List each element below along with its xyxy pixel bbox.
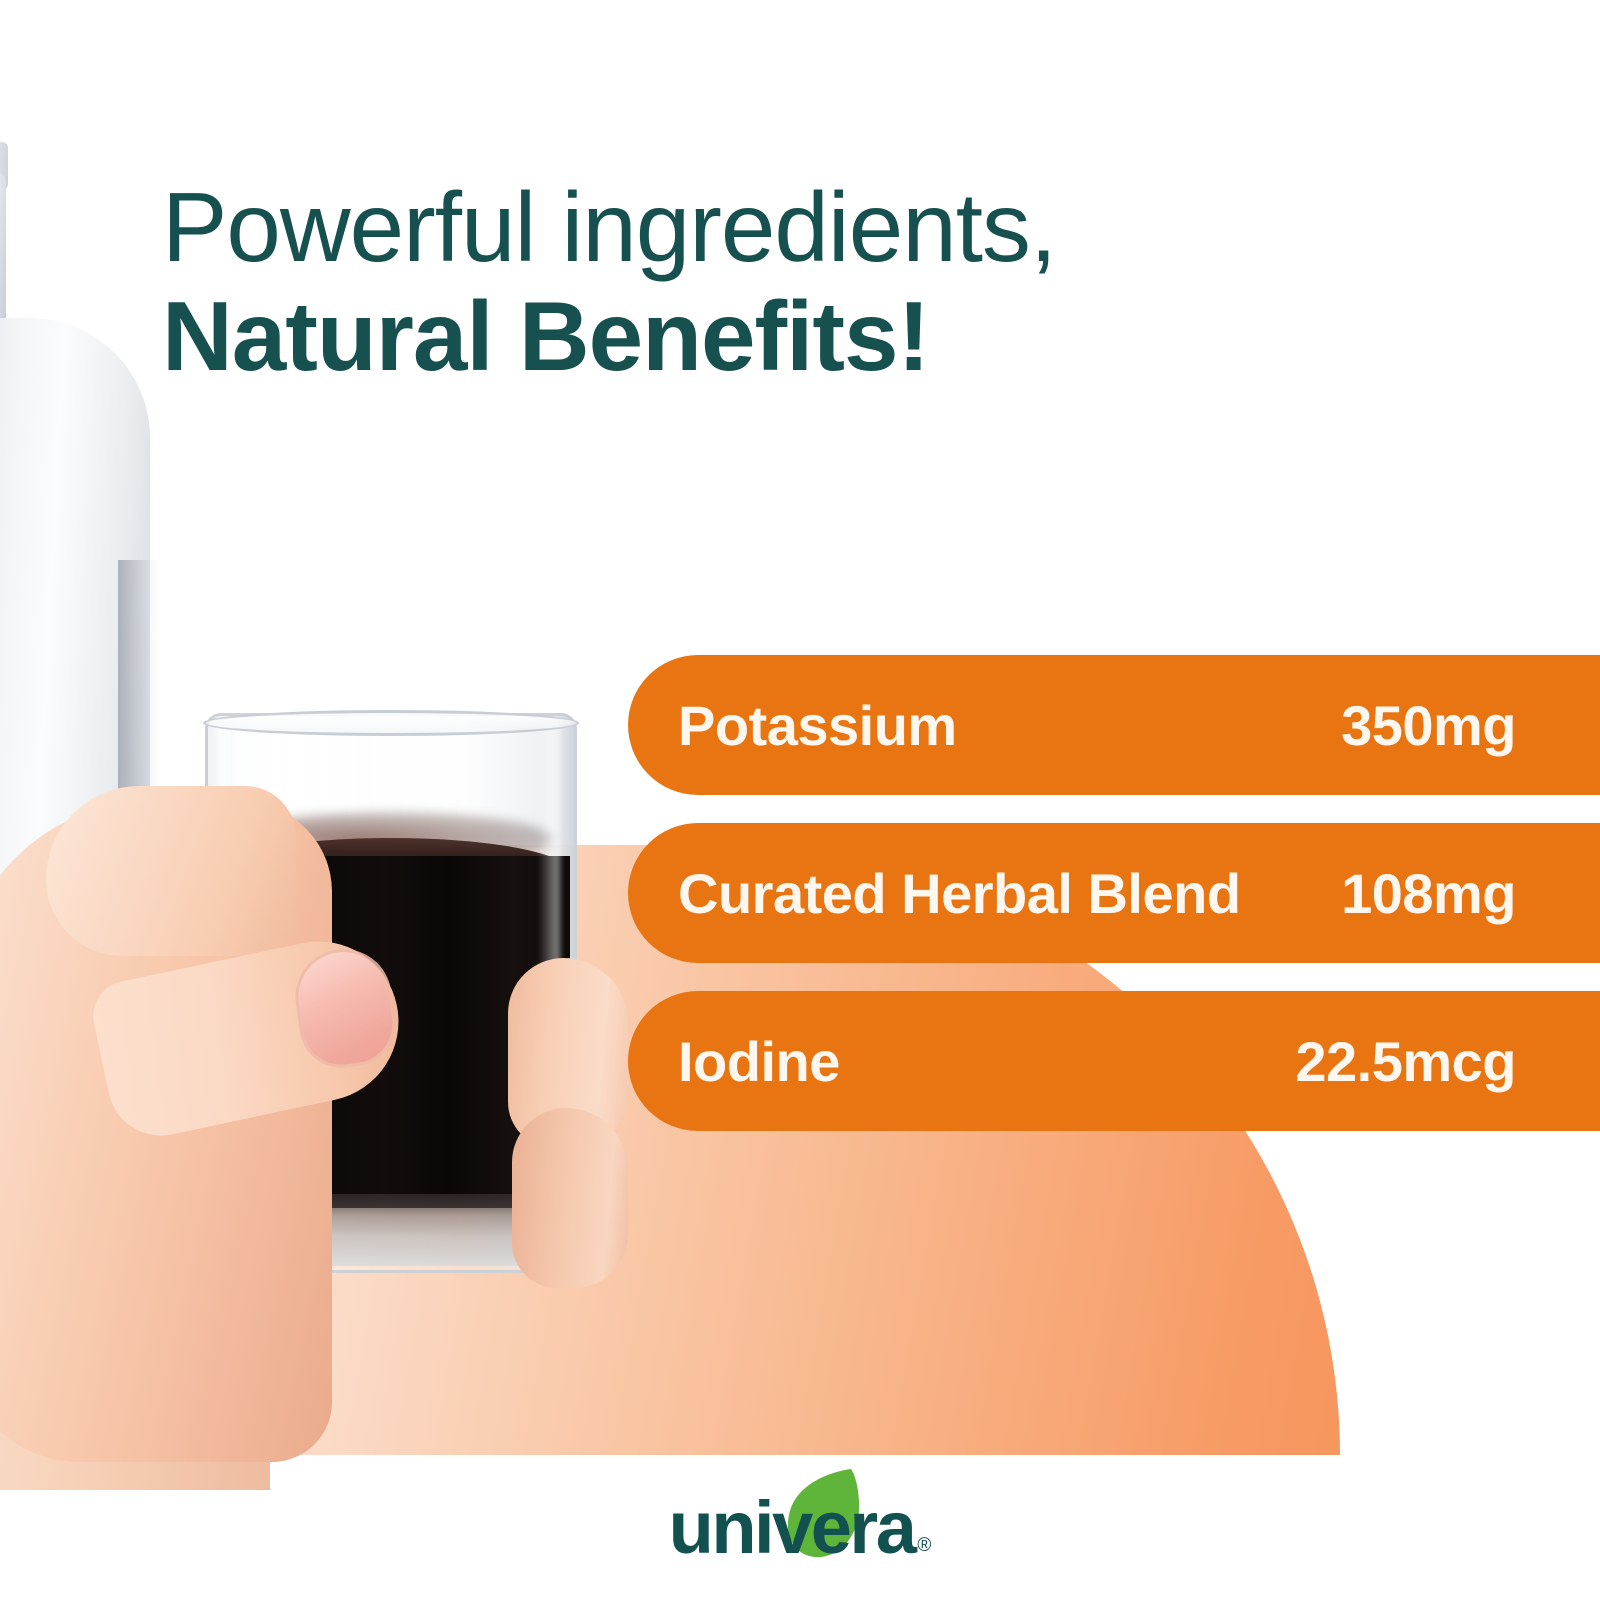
finger-right-lower [512,1108,628,1288]
ingredient-amount: 108mg [1341,861,1516,926]
ingredient-name: Potassium [678,693,957,758]
infographic-canvas: Powerful ingredients, Natural Benefits! … [0,0,1600,1600]
logo-lockup: uni vera ® [669,1491,932,1565]
ingredient-amount: 22.5mcg [1295,1029,1516,1094]
glass-rim [203,710,579,736]
logo-text-uni: uni [669,1491,772,1565]
brand-logo: uni vera ® [0,1482,1600,1574]
ingredient-name: Curated Herbal Blend [678,861,1241,926]
hand-holding-glass-image [0,690,640,1480]
ingredient-row-iodine: Iodine 22.5mcg [628,991,1600,1131]
logo-text-vera: vera [772,1491,914,1565]
headline-line-2: Natural Benefits! [162,282,1402,390]
ingredient-amount: 350mg [1341,693,1516,758]
headline-line-1: Powerful ingredients, [162,172,1402,282]
registered-trademark-symbol: ® [917,1535,931,1557]
ingredient-name: Iodine [678,1029,840,1094]
page-title: Powerful ingredients, Natural Benefits! [162,172,1402,390]
ingredient-row-curated-herbal-blend: Curated Herbal Blend 108mg [628,823,1600,963]
ingredient-list: Potassium 350mg Curated Herbal Blend 108… [628,655,1600,1159]
ingredient-row-potassium: Potassium 350mg [628,655,1600,795]
knuckles [46,786,296,956]
